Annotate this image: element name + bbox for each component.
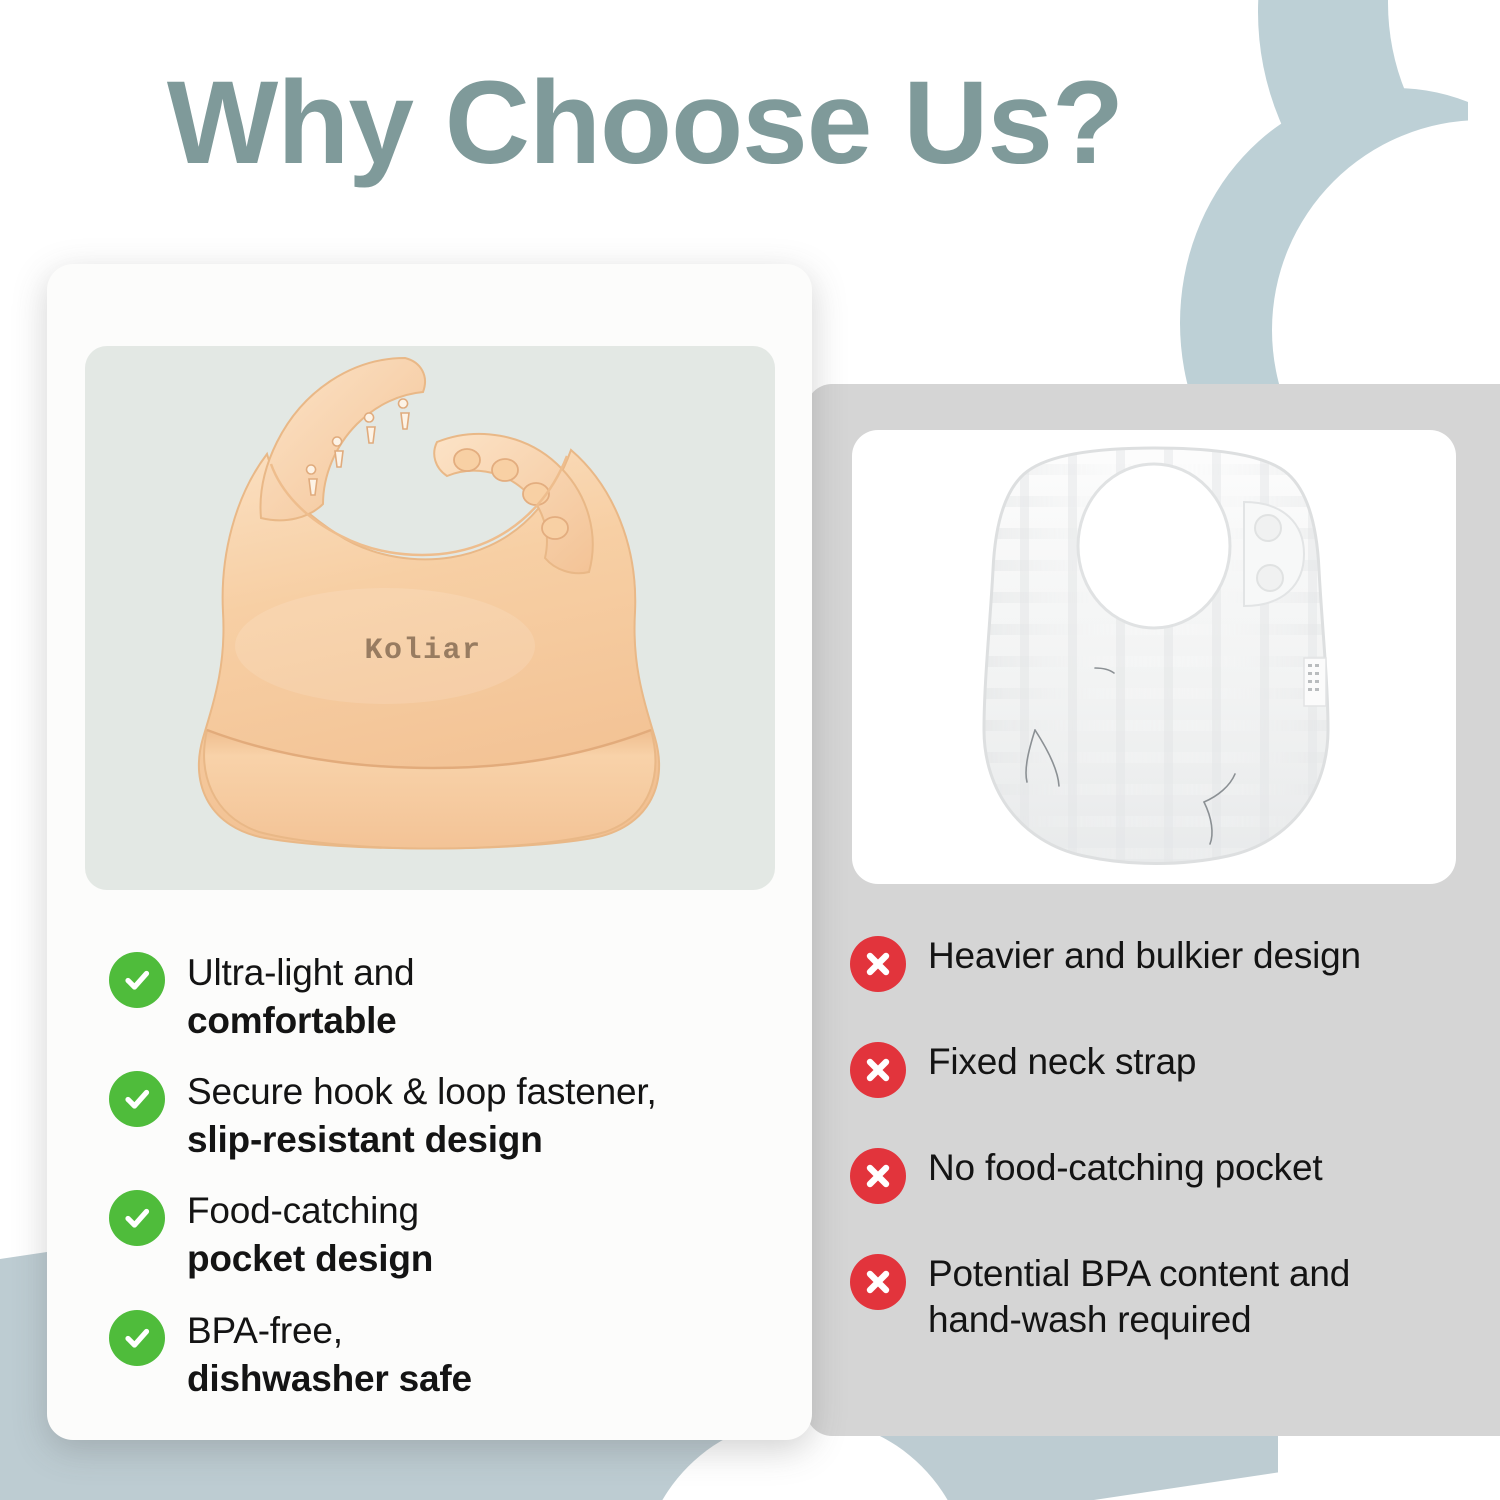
list-item-line2: dishwasher safe (187, 1355, 472, 1403)
list-item-line2: pocket design (187, 1235, 433, 1283)
product-panel: Koliar Ultra-light and comfortable (47, 264, 812, 1440)
check-icon (109, 1190, 165, 1246)
cross-icon (850, 1254, 906, 1310)
competitor-panel: Heavier and bulkier design Fixed neck st… (806, 384, 1500, 1436)
list-item-text: Potential BPA content and hand-wash requ… (928, 1250, 1350, 1343)
list-item-text: No food-catching pocket (928, 1144, 1322, 1191)
check-icon (109, 1071, 165, 1127)
silicone-bib-illustration: Koliar (85, 346, 775, 890)
list-item: Fixed neck strap (850, 1038, 1470, 1098)
list-item: Potential BPA content and hand-wash requ… (850, 1250, 1470, 1343)
muslin-bib-illustration (852, 430, 1456, 884)
list-item-line1: Secure hook & loop fastener, (187, 1068, 657, 1116)
list-item-line1: Food-catching (187, 1187, 433, 1235)
list-item-line2: slip-resistant design (187, 1116, 657, 1164)
list-item-text: Fixed neck strap (928, 1038, 1196, 1085)
decorative-arc-top-right (1258, 0, 1500, 292)
list-item-text: Food-catching pocket design (187, 1186, 433, 1283)
cross-icon (850, 1148, 906, 1204)
check-icon (109, 1310, 165, 1366)
list-item-line1: Heavier and bulkier design (928, 933, 1361, 979)
cross-icon (850, 1042, 906, 1098)
list-item: Heavier and bulkier design (850, 932, 1470, 992)
list-item: Secure hook & loop fastener, slip-resist… (109, 1067, 789, 1164)
competitor-product-photo (852, 430, 1456, 884)
page-title: Why Choose Us? (0, 62, 1290, 186)
list-item-line2: hand-wash required (928, 1297, 1350, 1343)
decorative-arc-right-mask (1468, 0, 1500, 420)
cross-icon (850, 936, 906, 992)
list-item: Ultra-light and comfortable (109, 948, 789, 1045)
decorative-arc-top-right-cutout (1388, 0, 1500, 238)
list-item: Food-catching pocket design (109, 1186, 789, 1283)
check-icon (109, 952, 165, 1008)
list-item-text: Ultra-light and comfortable (187, 948, 414, 1045)
list-item-text: Secure hook & loop fastener, slip-resist… (187, 1067, 657, 1164)
product-feature-list: Ultra-light and comfortable Secure hook … (109, 948, 789, 1425)
competitor-feature-list: Heavier and bulkier design Fixed neck st… (850, 932, 1470, 1389)
list-item-line2: comfortable (187, 997, 414, 1045)
list-item-line1: Potential BPA content and (928, 1251, 1350, 1297)
list-item-text: BPA-free, dishwasher safe (187, 1306, 472, 1403)
list-item-line1: No food-catching pocket (928, 1145, 1322, 1191)
list-item-line1: BPA-free, (187, 1307, 472, 1355)
list-item-text: Heavier and bulkier design (928, 932, 1361, 979)
list-item-line1: Fixed neck strap (928, 1039, 1196, 1085)
list-item-line1: Ultra-light and (187, 949, 414, 997)
list-item: BPA-free, dishwasher safe (109, 1306, 789, 1403)
product-photo: Koliar (85, 346, 775, 890)
list-item: No food-catching pocket (850, 1144, 1470, 1204)
